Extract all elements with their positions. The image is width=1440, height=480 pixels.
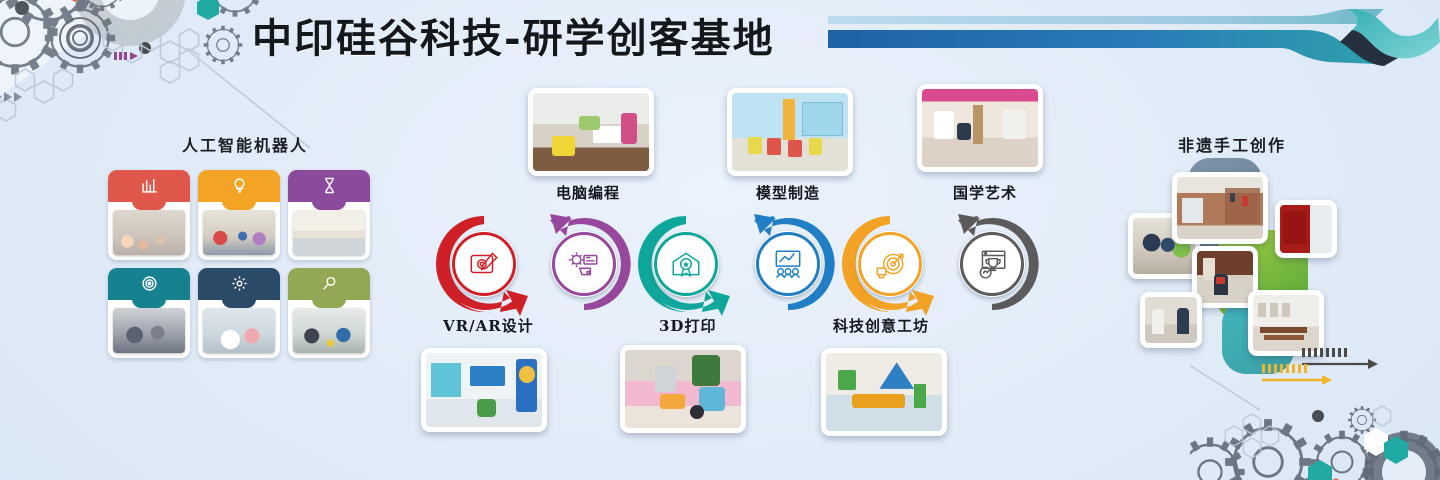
card-photo — [203, 308, 275, 353]
badge-ring — [858, 232, 922, 296]
center-bottom-photo-2[interactable] — [620, 345, 746, 433]
photo-visitors-demonstration — [1145, 297, 1197, 343]
badge-ring — [654, 232, 718, 296]
heritage-photo-2[interactable] — [1172, 172, 1268, 244]
photo-tech-creative-models — [826, 353, 942, 431]
award-badge-icon — [669, 247, 703, 281]
photo-model-making-classroom — [732, 93, 848, 171]
center-bottom-label-3: 科技创意工坊 — [833, 315, 929, 336]
badge-ring — [756, 232, 820, 296]
center-bottom-label-1: VR/AR设计 — [443, 315, 534, 336]
ai-card-6[interactable] — [288, 268, 370, 358]
badge-award[interactable] — [634, 212, 738, 316]
section-heading-ai-robots: 人工智能机器人 — [182, 132, 308, 156]
badge-vr-ar-design[interactable] — [432, 212, 536, 316]
center-top-label-3: 国学艺术 — [953, 182, 1017, 203]
center-top-label-1: 电脑编程 — [556, 182, 620, 203]
photo-computer-programming-classroom — [533, 93, 649, 171]
badge-ring — [960, 232, 1024, 296]
card-photo — [293, 210, 365, 255]
presentation-icon — [771, 247, 805, 281]
card-photo — [293, 308, 365, 353]
poster-canvas: 中印硅谷科技-研学创客基地 人工智能机器人 — [0, 0, 1440, 480]
arrow-dark — [1302, 348, 1378, 369]
badge-disc — [653, 231, 719, 297]
photo-tool-wall-workshop — [1177, 177, 1263, 239]
card-photo — [113, 308, 185, 353]
lightbulb-icon — [198, 173, 280, 197]
heritage-photo-3[interactable] — [1275, 200, 1337, 258]
badge-disc — [451, 231, 517, 297]
ai-robots-card-grid — [108, 170, 370, 362]
center-bottom-photo-3[interactable] — [821, 348, 947, 436]
arrow-yellow — [1262, 364, 1332, 385]
badge-disc — [551, 231, 617, 297]
photo-red-lacquer-display — [1280, 205, 1332, 253]
badge-disc — [755, 231, 821, 297]
magnifier-icon — [288, 271, 370, 295]
dashed-arrows-decoration — [1250, 346, 1410, 392]
process-badge-chain — [432, 212, 1044, 316]
ai-card-2[interactable] — [198, 170, 280, 260]
center-bottom-label-2: 3D打印 — [659, 315, 716, 336]
badge-ring — [452, 232, 516, 296]
badge-trophy[interactable] — [940, 212, 1044, 316]
ai-card-1[interactable] — [108, 170, 190, 260]
hourglass-icon — [288, 173, 370, 197]
badge-disc — [857, 231, 923, 297]
center-top-photo-1[interactable] — [528, 88, 654, 176]
badge-computer-gear[interactable] — [532, 212, 636, 316]
computer-gear-icon — [567, 247, 601, 281]
section-heading-heritage-crafts: 非遗手工创作 — [1178, 132, 1286, 156]
ai-card-3[interactable] — [288, 170, 370, 260]
center-top-photo-3[interactable] — [917, 84, 1043, 172]
center-top-label-2: 模型制造 — [756, 182, 820, 203]
card-photo — [203, 210, 275, 255]
card-photo — [113, 210, 185, 255]
photo-3d-printing-activity — [625, 350, 741, 428]
page-title: 中印硅谷科技-研学创客基地 — [252, 6, 775, 64]
photo-vr-ar-showroom — [426, 353, 542, 427]
ai-card-4[interactable] — [108, 268, 190, 358]
ribbon-decoration — [828, 8, 1440, 76]
badge-ring — [552, 232, 616, 296]
badge-target-workshop[interactable] — [838, 212, 942, 316]
trophy-browser-icon — [975, 247, 1009, 281]
badge-disc — [959, 231, 1025, 297]
target-icon — [108, 271, 190, 295]
center-bottom-photo-1[interactable] — [421, 348, 547, 432]
bar-chart-icon — [108, 173, 190, 197]
photo-traditional-arts-class — [922, 89, 1038, 167]
gear-icon — [198, 271, 280, 295]
badge-presentation[interactable] — [736, 212, 840, 316]
photo-furniture-exhibition-hall — [1253, 295, 1319, 351]
heritage-photo-5[interactable] — [1140, 292, 1202, 348]
ai-card-5[interactable] — [198, 268, 280, 358]
target-arrow-icon — [873, 247, 907, 281]
center-top-photo-2[interactable] — [727, 88, 853, 176]
vr-design-icon — [467, 247, 501, 281]
photo-craftsman-at-bench — [1197, 251, 1253, 303]
